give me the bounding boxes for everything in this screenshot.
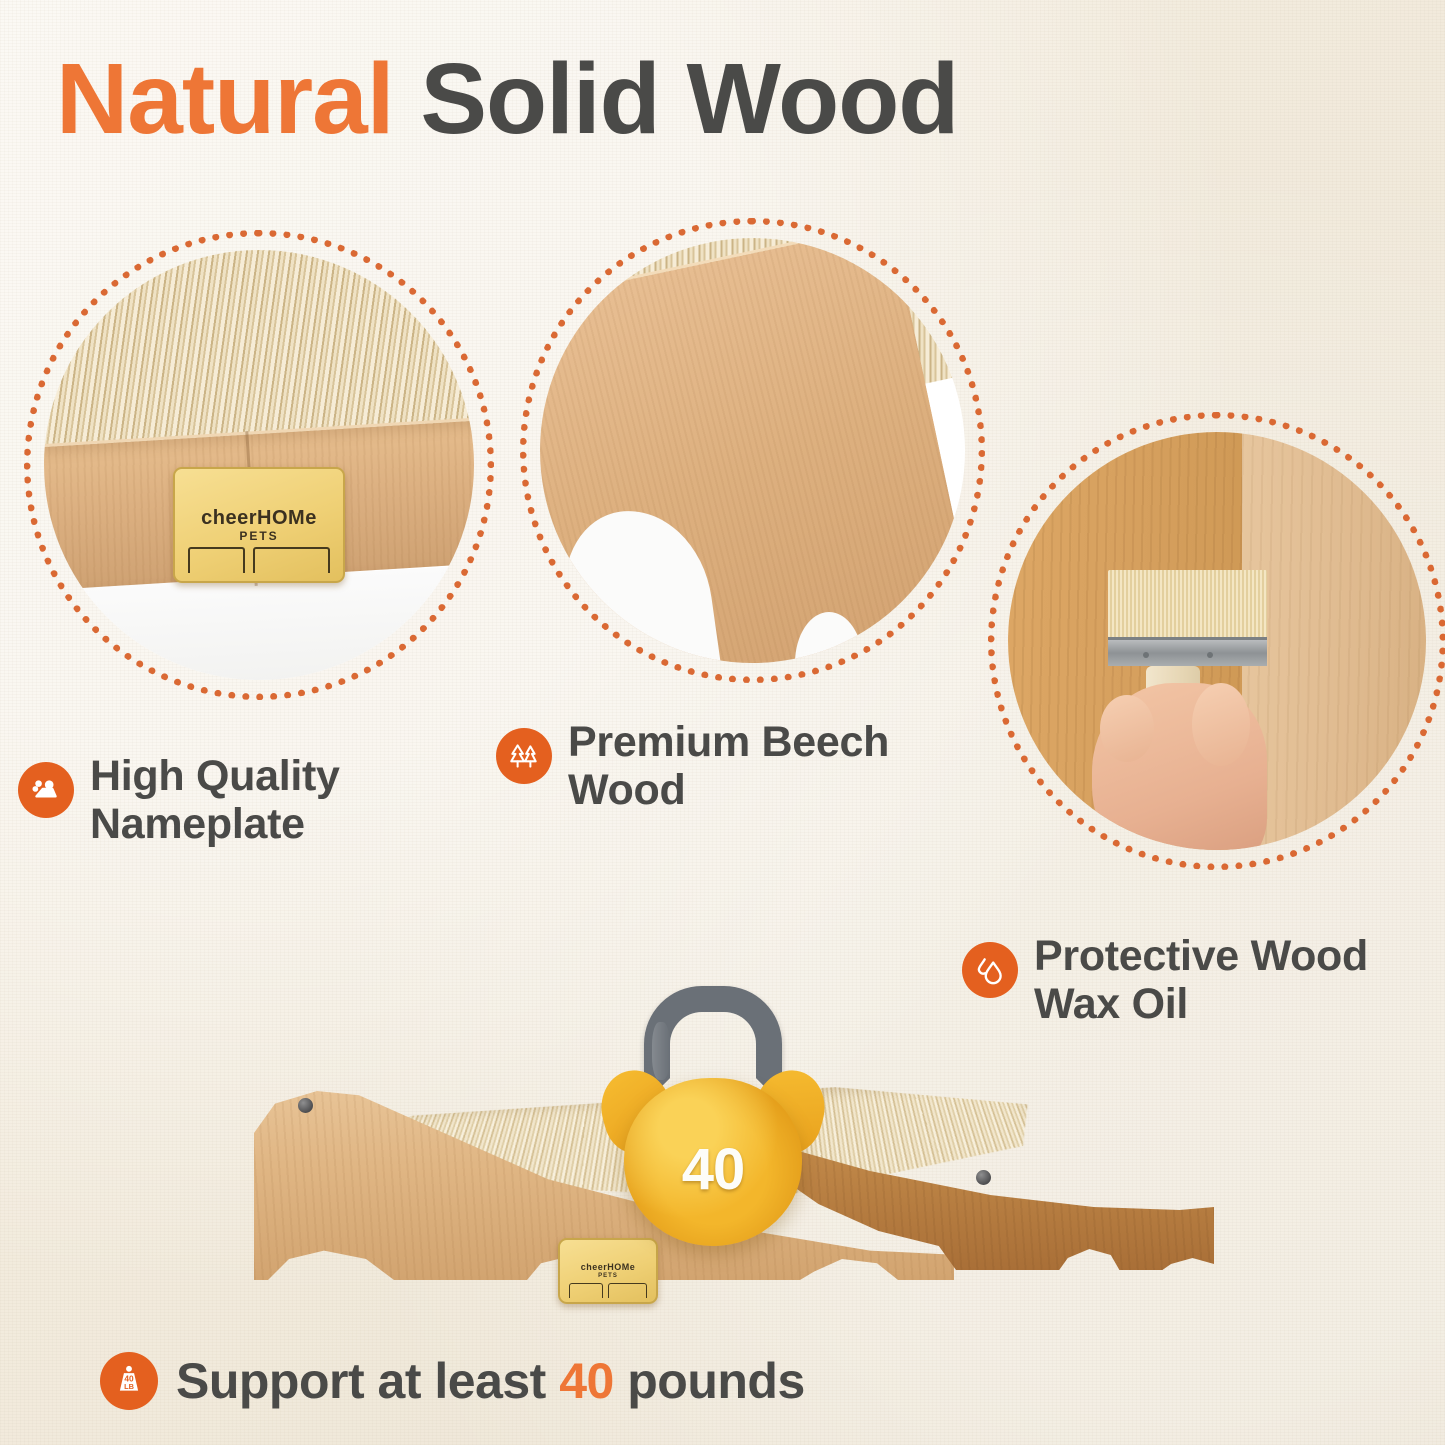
untreated-wood-area	[1242, 432, 1426, 850]
pine-trees-icon	[496, 728, 552, 784]
page-title: Natural Solid Wood	[56, 44, 958, 154]
kettlebell-weight-label: 40	[682, 1136, 745, 1203]
brush-bristles	[1108, 570, 1267, 637]
oil-droplet-icon	[962, 942, 1018, 998]
photo-circle-beech-wood	[540, 238, 965, 663]
feature-high-quality-nameplate: High Quality Nameplate	[18, 752, 340, 848]
nameplate-line2: PETS	[239, 529, 278, 543]
nameplate-paw-marks	[188, 547, 329, 574]
beech-wood-closeup-photo	[540, 238, 965, 663]
title-orange-part: Natural	[56, 43, 394, 155]
nameplate-line1: cheerHOMe	[201, 508, 317, 529]
kettlebell-weight: 40	[588, 986, 838, 1246]
brush-ferrule	[1108, 637, 1267, 666]
feature-premium-beech-wood: Premium Beech Wood	[496, 718, 889, 814]
thumb	[1100, 695, 1154, 762]
product-hero-photo: cheerHOMe PETS 40	[236, 998, 1186, 1353]
nameplate-closeup-photo: cheerHOMe PETS	[44, 250, 474, 680]
wax-oil-application-photo	[1008, 432, 1426, 850]
screw-left	[298, 1098, 313, 1113]
photo-circle-wax-oil	[1008, 432, 1426, 850]
caption-suffix: pounds	[614, 1353, 805, 1409]
caption-text: Support at least 40 pounds	[176, 1352, 805, 1410]
weight-40lb-icon: 40 LB	[100, 1352, 158, 1410]
nameplate-paw-marks	[568, 1283, 649, 1298]
screw-right	[976, 1170, 991, 1185]
feature-protective-wax-oil: Protective Wood Wax Oil	[962, 932, 1368, 1028]
support-capacity-caption: 40 LB Support at least 40 pounds	[100, 1352, 805, 1410]
product-feature-poster: Natural Solid Wood cheerHOMe PETS	[0, 0, 1445, 1445]
photo-circle-nameplate: cheerHOMe PETS	[44, 250, 474, 680]
kettlebell-body: 40	[624, 1078, 802, 1246]
caption-prefix: Support at least	[176, 1353, 559, 1409]
product-brand-nameplate: cheerHOMe PETS	[558, 1238, 658, 1304]
title-dark-part: Solid Wood	[394, 43, 959, 155]
nameplate-line1: cheerHOMe	[581, 1263, 636, 1272]
feature-label: High Quality Nameplate	[90, 752, 340, 848]
weight-icon-unit: LB	[124, 1382, 135, 1391]
nameplate-line2: PETS	[598, 1273, 618, 1279]
caption-highlight: 40	[559, 1353, 614, 1409]
feature-label: Premium Beech Wood	[568, 718, 889, 814]
nameplate-badge-icon	[18, 762, 74, 818]
feature-label: Protective Wood Wax Oil	[1034, 932, 1368, 1028]
brand-nameplate: cheerHOMe PETS	[173, 467, 345, 583]
